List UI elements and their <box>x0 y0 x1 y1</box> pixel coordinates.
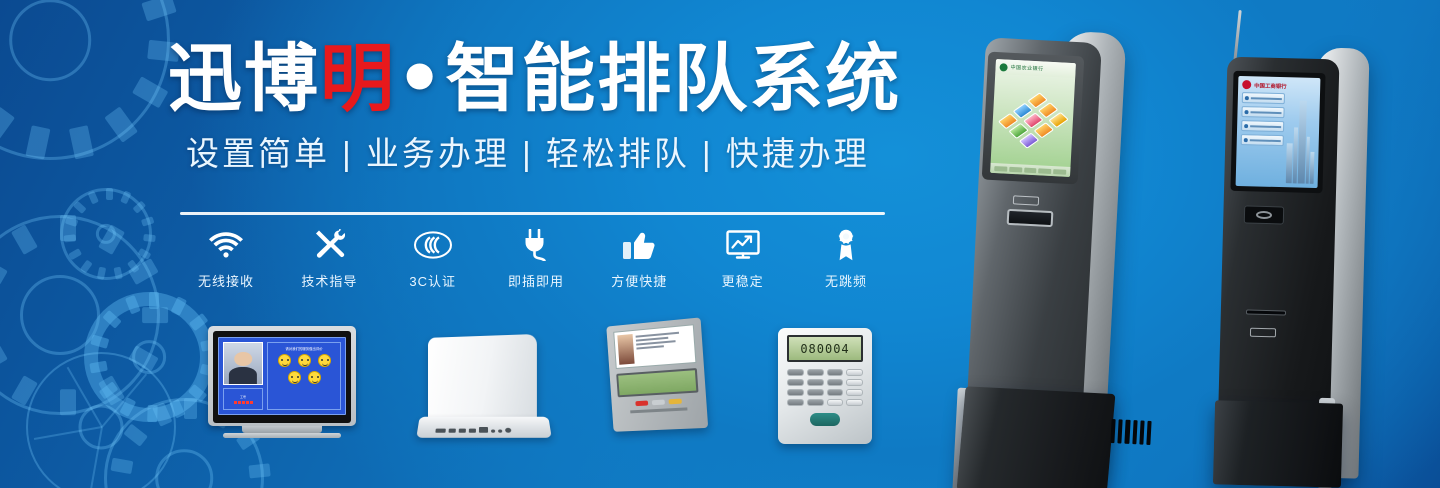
kiosk-touchscreen[interactable]: 中国农业银行 <box>990 59 1076 177</box>
port-strip <box>435 427 511 433</box>
face-satisfied[interactable] <box>298 354 311 367</box>
thumbs-up-icon <box>617 228 661 262</box>
product-evaluation-monitor: 工号 请对我们的服务做出评价 <box>208 326 356 438</box>
kiosk-bank-header: 中国工商银行 <box>1242 80 1316 91</box>
product-desk-evaluator <box>600 322 722 448</box>
headline-block: 迅博明•智能排队系统 设置简单 | 业务办理 | 轻松排队 | 快捷办理 <box>168 38 908 174</box>
keypad-key[interactable] <box>787 389 804 396</box>
face-very-satisfied[interactable] <box>278 354 291 367</box>
feature-item-stability: 更稳定 <box>697 228 789 290</box>
evaluation-prompt: 请对我们的服务做出评价 <box>285 346 322 351</box>
product-showcase: 工号 请对我们的服务做出评价 <box>0 318 900 458</box>
button-red[interactable] <box>635 401 648 407</box>
kiosk-base <box>1213 400 1343 487</box>
feature-label: 即插即用 <box>508 271 564 290</box>
keypad-body: 080004 <box>778 328 872 444</box>
face-unsatisfied[interactable] <box>288 371 301 384</box>
keypad-key[interactable] <box>846 399 863 406</box>
kiosk-menu-item[interactable] <box>1241 134 1284 146</box>
feature-label: 无线接收 <box>198 271 254 290</box>
kiosk-touchscreen[interactable]: 中国工商银行 <box>1236 76 1321 188</box>
satisfaction-faces <box>271 354 337 384</box>
button-yellow[interactable] <box>668 399 681 405</box>
keypad-key[interactable] <box>807 369 824 376</box>
title-part-accent: 明 <box>320 36 396 122</box>
bank-logo-icon <box>1242 80 1251 89</box>
monitor-base <box>223 433 341 438</box>
keypad-display-value: 080004 <box>800 342 849 356</box>
kiosk-base <box>957 386 1116 488</box>
feature-list: 无线接收 技术指导 3C认证 <box>180 228 892 290</box>
kiosk-left-silver: 中国农业银行 <box>955 18 1165 488</box>
product-queue-caller-keypad: 080004 <box>778 328 872 448</box>
monitor-stand <box>242 426 322 433</box>
feature-label: 方便快捷 <box>611 271 667 290</box>
kiosk-screen-body <box>1240 92 1316 184</box>
button-grey[interactable] <box>651 400 664 406</box>
staff-id-card <box>613 324 696 369</box>
monitor-chart-icon <box>721 228 765 262</box>
staff-name-box: 工号 <box>223 388 263 410</box>
kiosk-ticket-slot[interactable] <box>1246 309 1286 315</box>
keypad-key[interactable] <box>807 379 824 386</box>
plug-icon <box>514 228 558 262</box>
kiosk-menu-list[interactable] <box>1240 92 1285 183</box>
keypad-key[interactable] <box>846 389 863 396</box>
keypad-key[interactable] <box>787 379 804 386</box>
kiosk-screen-bezel: 中国工商银行 <box>1230 71 1325 193</box>
kiosk-ticket-printer-slot[interactable] <box>1007 209 1054 227</box>
kiosk-card-reader[interactable] <box>1244 205 1284 224</box>
staff-panel: 工号 <box>223 342 263 410</box>
subtitle: 设置简单 | 业务办理 | 轻松排队 | 快捷办理 <box>186 134 908 174</box>
title-part-3: •智能排队系统 <box>396 36 901 122</box>
keypad-keys[interactable] <box>787 369 863 406</box>
bank-name: 中国工商银行 <box>1254 81 1287 90</box>
monitor-frame: 工号 请对我们的服务做出评价 <box>213 331 351 423</box>
keypad-key[interactable] <box>787 369 804 376</box>
feature-item-no-frequency-hopping: 无跳频 <box>800 228 892 290</box>
feature-label: 技术指导 <box>301 271 357 290</box>
host-body <box>428 334 537 424</box>
promo-banner: 迅博明•智能排队系统 设置简单 | 业务办理 | 轻松排队 | 快捷办理 无线接… <box>0 0 1440 488</box>
face-neutral[interactable] <box>318 354 331 367</box>
tools-icon <box>307 228 351 262</box>
feature-label: 无跳频 <box>825 271 867 290</box>
staff-info-lines <box>636 329 692 364</box>
page-title: 迅博明•智能排队系统 <box>168 38 908 120</box>
keypad-call-button[interactable] <box>810 413 840 426</box>
monitor-screen: 工号 请对我们的服务做出评价 <box>218 337 346 415</box>
feature-label: 更稳定 <box>722 271 764 290</box>
keypad-key[interactable] <box>827 389 844 396</box>
face-very-unsatisfied[interactable] <box>308 371 321 384</box>
rating-stars <box>234 401 253 404</box>
kiosk-ventilation-slots <box>1110 419 1151 445</box>
bank-name: 中国农业银行 <box>1010 64 1043 73</box>
staff-photo <box>223 342 263 385</box>
keypad-key[interactable] <box>827 399 844 406</box>
kiosk-antenna <box>1233 10 1241 62</box>
staff-photo <box>617 334 635 365</box>
evaluator-body <box>606 317 708 431</box>
feature-label: 3C认证 <box>409 271 456 290</box>
title-part-1: 迅博 <box>168 36 320 122</box>
kiosk-menu-item[interactable] <box>1241 120 1284 132</box>
evaluator-lcd-display <box>616 368 698 397</box>
feature-item-convenient: 方便快捷 <box>593 228 685 290</box>
kiosk-menu-item[interactable] <box>1241 106 1284 118</box>
gear-icon <box>0 0 170 160</box>
feature-item-ccc: 3C认证 <box>387 228 479 290</box>
keypad-key[interactable] <box>846 379 863 386</box>
feature-item-tech-support: 技术指导 <box>283 228 375 290</box>
keypad-key[interactable] <box>846 369 863 376</box>
staff-label: 工号 <box>240 395 246 399</box>
kiosk-menu-item[interactable] <box>1242 92 1285 104</box>
kiosk-app-tiles[interactable] <box>997 92 1068 148</box>
kiosk-brand-plate <box>1250 328 1276 338</box>
keypad-key[interactable] <box>807 399 824 406</box>
evaluation-panel: 请对我们的服务做出评价 <box>267 342 341 410</box>
evaluator-footer-strip <box>630 407 687 413</box>
ccc-certification-icon <box>411 228 455 262</box>
monitor-bezel: 工号 请对我们的服务做出评价 <box>208 326 356 426</box>
keypad-key[interactable] <box>787 399 804 406</box>
keypad-key[interactable] <box>827 379 844 386</box>
host-base <box>416 417 551 438</box>
keypad-key[interactable] <box>807 389 824 396</box>
kiosk-right-black: 中国工商银行 <box>1208 10 1408 488</box>
gear-icon <box>60 188 152 280</box>
feature-item-wireless: 无线接收 <box>180 228 272 290</box>
product-host-control-box <box>418 336 550 448</box>
bank-logo-icon <box>999 63 1007 71</box>
horizontal-divider <box>180 212 885 215</box>
wifi-icon <box>204 228 248 262</box>
kiosk-skyline-image <box>1286 93 1316 184</box>
kiosk-screen-bezel: 中国农业银行 <box>982 52 1085 185</box>
evaluator-buttons <box>618 398 699 408</box>
keypad-key[interactable] <box>827 369 844 376</box>
award-medal-icon <box>824 228 868 262</box>
kiosk-brand-plate <box>1013 195 1039 205</box>
kiosk-menu-area <box>991 74 1076 167</box>
feature-item-plug-and-play: 即插即用 <box>490 228 582 290</box>
keypad-lcd-display: 080004 <box>787 335 863 362</box>
